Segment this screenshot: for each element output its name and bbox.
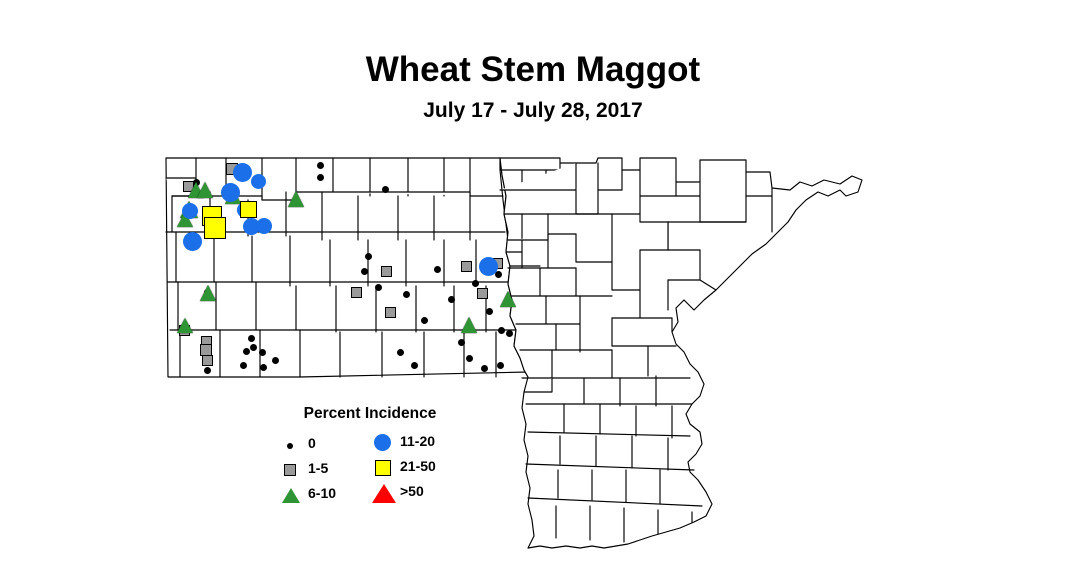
marker-triangle-6-10 [197, 182, 213, 198]
marker-square-1-5 [351, 287, 362, 298]
marker-dot-0 [472, 280, 479, 287]
marker-dot-0 [243, 348, 250, 355]
marker-dot-0 [317, 162, 324, 169]
marker-dot-0 [204, 367, 211, 374]
small-black-dot-icon [280, 434, 306, 456]
legend-label-0: 0 [308, 436, 316, 450]
marker-dot-0 [260, 364, 267, 371]
wheat-stem-maggot-map-figure: Wheat Stem Maggot July 17 - July 28, 201… [0, 0, 1066, 565]
marker-triangle-6-10 [200, 285, 216, 301]
marker-triangle-6-10 [288, 191, 304, 207]
data-marker-layer [0, 0, 1066, 565]
marker-triangle-6-10 [461, 317, 477, 333]
yellow-square-icon [372, 457, 398, 479]
marker-dot-0 [448, 296, 455, 303]
marker-square-1-5 [381, 266, 392, 277]
marker-circle-11-20 [183, 232, 202, 251]
marker-square-21-50 [204, 217, 226, 239]
marker-square-1-5 [202, 355, 213, 366]
marker-dot-0 [458, 339, 465, 346]
marker-square-21-50 [240, 201, 257, 218]
legend-label-21-50: 21-50 [400, 459, 436, 473]
marker-dot-0 [411, 362, 418, 369]
green-triangle-icon [280, 484, 306, 506]
marker-dot-0 [382, 186, 389, 193]
marker-square-1-5 [461, 261, 472, 272]
marker-dot-0 [434, 266, 441, 273]
marker-dot-0 [506, 330, 513, 337]
legend-label-11-20: 11-20 [400, 434, 435, 448]
marker-dot-0 [497, 362, 504, 369]
marker-dot-0 [317, 174, 324, 181]
marker-dot-0 [466, 355, 473, 362]
marker-dot-0 [486, 308, 493, 315]
marker-circle-11-20 [233, 163, 252, 182]
marker-dot-0 [397, 349, 404, 356]
marker-dot-0 [375, 284, 382, 291]
blue-circle-icon [372, 432, 398, 454]
marker-dot-0 [259, 349, 266, 356]
marker-dot-0 [498, 327, 505, 334]
marker-circle-11-20 [221, 183, 240, 202]
marker-dot-0 [365, 253, 372, 260]
marker-dot-0 [403, 291, 410, 298]
marker-dot-0 [421, 317, 428, 324]
marker-circle-11-20 [182, 203, 198, 219]
legend-label-6-10: 6-10 [308, 486, 336, 500]
marker-dot-0 [481, 365, 488, 372]
legend-label-1-5: 1-5 [308, 461, 328, 475]
marker-dot-0 [240, 362, 247, 369]
gray-square-icon [280, 459, 306, 481]
legend-label-over-50: >50 [400, 484, 424, 498]
marker-circle-11-20 [479, 257, 498, 276]
legend-title: Percent Incidence [280, 406, 460, 422]
marker-circle-11-20 [256, 218, 272, 234]
marker-circle-11-20 [251, 174, 266, 189]
marker-square-1-5 [477, 288, 488, 299]
red-triangle-icon [372, 482, 398, 504]
marker-triangle-6-10 [500, 291, 516, 307]
marker-dot-0 [248, 335, 255, 342]
legend: Percent Incidence 0 1-5 6-10 11-20 21-50 [272, 406, 472, 506]
marker-dot-0 [361, 268, 368, 275]
marker-triangle-6-10 [177, 318, 193, 333]
marker-square-1-5 [385, 307, 396, 318]
marker-dot-0 [272, 357, 279, 364]
marker-dot-0 [250, 344, 257, 351]
